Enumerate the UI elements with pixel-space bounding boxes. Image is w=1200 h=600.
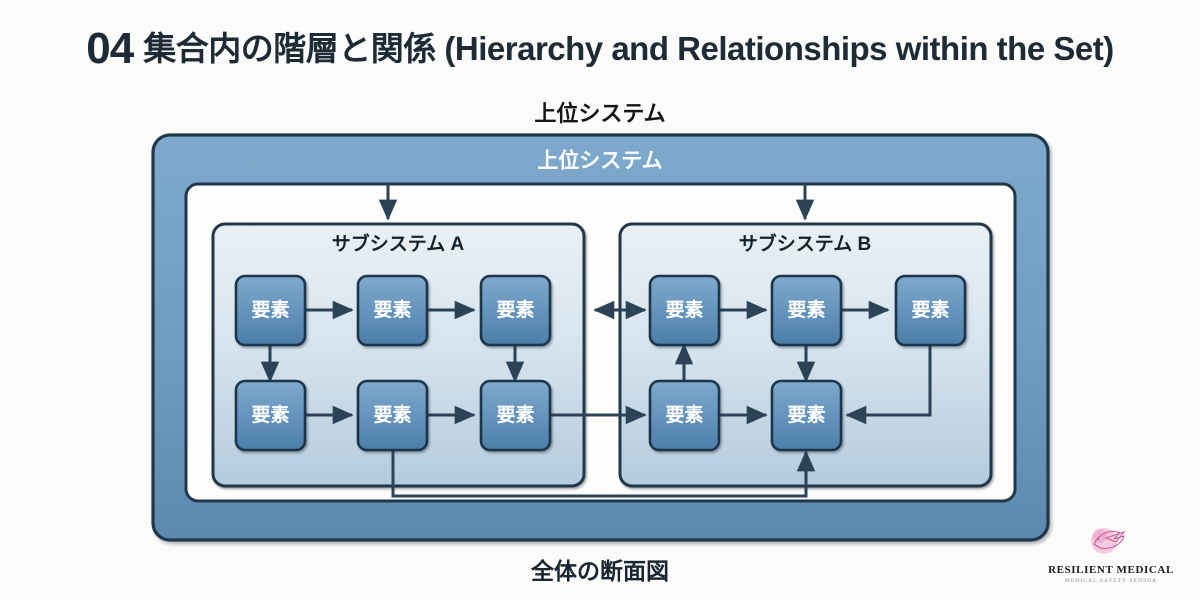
element-box[interactable]: 要素 — [650, 381, 719, 450]
element-box[interactable]: 要素 — [481, 276, 550, 345]
diagram-canvas: 上位システム サブシステム A サブシステム B — [0, 0, 1200, 600]
outer-system-label: 上位システム — [537, 149, 662, 173]
element-label: 要素 — [665, 403, 703, 426]
element-box[interactable]: 要素 — [650, 276, 719, 345]
element-box[interactable]: 要素 — [236, 276, 305, 345]
brand-logo: RESILIENT MEDICAL MEDICAL SAFETY SENSOR — [1036, 522, 1186, 594]
element-label: 要素 — [496, 298, 534, 321]
logo-tagline: MEDICAL SAFETY SENSOR — [1036, 578, 1186, 584]
element-box[interactable]: 要素 — [772, 381, 841, 450]
element-box[interactable]: 要素 — [772, 276, 841, 345]
element-label: 要素 — [787, 403, 825, 426]
element-label: 要素 — [251, 403, 289, 426]
subsystem-a-label: サブシステム A — [332, 232, 465, 255]
element-box[interactable]: 要素 — [358, 276, 427, 345]
element-label: 要素 — [251, 298, 289, 321]
element-box[interactable]: 要素 — [896, 276, 965, 345]
element-box[interactable]: 要素 — [358, 381, 427, 450]
logo-name: RESILIENT MEDICAL — [1036, 564, 1186, 576]
element-label: 要素 — [373, 403, 411, 426]
element-box[interactable]: 要素 — [481, 381, 550, 450]
dove-icon — [1036, 522, 1186, 558]
element-label: 要素 — [911, 298, 949, 321]
element-label: 要素 — [787, 298, 825, 321]
subsystem-b-label: サブシステム B — [739, 232, 871, 255]
element-label: 要素 — [496, 403, 534, 426]
bottom-caption: 全体の断面図 — [0, 552, 1200, 586]
element-box[interactable]: 要素 — [236, 381, 305, 450]
element-label: 要素 — [665, 298, 703, 321]
element-label: 要素 — [373, 298, 411, 321]
